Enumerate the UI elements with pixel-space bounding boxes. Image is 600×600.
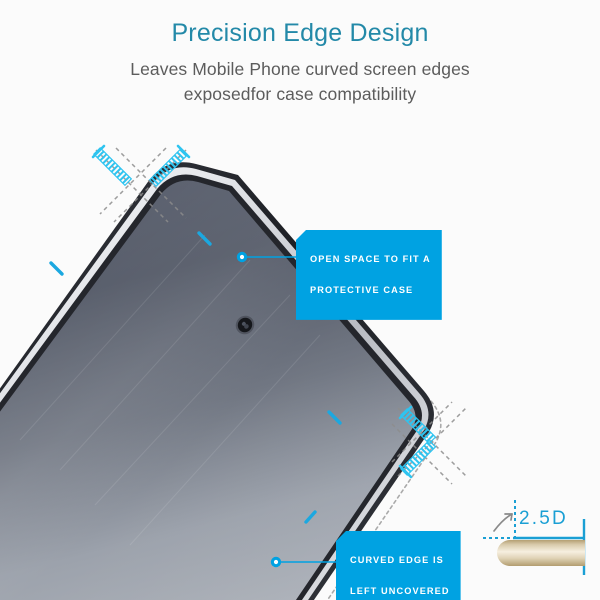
header: Precision Edge Design Leaves Mobile Phon… <box>0 0 600 107</box>
callout-open-space: OPEN SPACE TO FIT A PROTECTIVE CASE <box>296 230 442 320</box>
callout-curved-edge: CURVED EDGE IS LEFT UNCOVERED <box>336 531 461 600</box>
subtitle-line-2: exposedfor case compatibility <box>184 84 416 104</box>
callout-open-space-line-1: OPEN SPACE TO FIT A <box>310 252 431 267</box>
callout-open-space-line-2: PROTECTIVE CASE <box>310 283 431 298</box>
product-feature-image: Precision Edge Design Leaves Mobile Phon… <box>0 0 600 600</box>
page-subtitle: Leaves Mobile Phone curved screen edges … <box>0 48 600 108</box>
edge-thickness-label: 2.5D <box>519 509 568 528</box>
page-title: Precision Edge Design <box>0 0 600 48</box>
callout-curved-edge-line-2: LEFT UNCOVERED <box>350 584 450 599</box>
subtitle-line-1: Leaves Mobile Phone curved screen edges <box>130 59 470 79</box>
callout-curved-edge-line-1: CURVED EDGE IS <box>350 553 450 568</box>
